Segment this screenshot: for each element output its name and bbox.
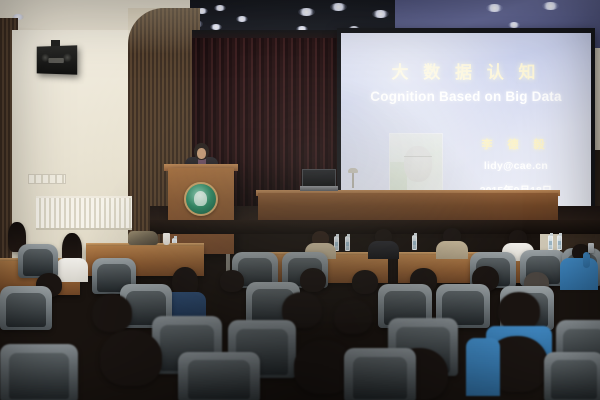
auditorium-seat[interactable]: [544, 352, 600, 400]
audience-torso: [368, 241, 399, 259]
auditorium-seat[interactable]: [344, 348, 416, 400]
slide-speaker-name: 李 德 毅: [456, 136, 576, 152]
water-bottle[interactable]: [345, 236, 350, 251]
bottle-cap: [347, 234, 350, 237]
handbag[interactable]: [128, 231, 158, 245]
wall-radiator: [36, 196, 132, 230]
audience-torso-blue: [560, 258, 598, 290]
ceiling-spotlight-icon: [486, 4, 503, 12]
laptop-keyboard[interactable]: [300, 186, 338, 191]
water-bottle[interactable]: [557, 235, 562, 250]
podium: [168, 168, 234, 254]
slide-title-chinese: 大 数 据 认 知: [341, 58, 591, 83]
bottle-cap: [550, 233, 553, 236]
ceiling-spotlight-icon: [214, 5, 226, 11]
ceiling-spotlight-icon: [330, 3, 347, 11]
speaker-grille: [48, 58, 63, 63]
portrait-face: [404, 146, 432, 182]
smartphone-icon[interactable]: [588, 243, 594, 253]
desk-lamp-icon: [352, 171, 354, 188]
presenter-face: [197, 148, 206, 159]
auditorium-seat[interactable]: [178, 352, 260, 400]
audience-head: [300, 268, 326, 292]
speaker-cone-right: [63, 53, 72, 62]
audience-head-foreground: [100, 330, 162, 386]
slide-subtitle-english: Cognition Based on Big Data: [341, 89, 591, 104]
audience-head: [220, 270, 244, 292]
ceiling-spotlight-icon: [298, 8, 315, 16]
bottle-cap: [336, 234, 339, 237]
projection-screen[interactable]: 大 数 据 认 知 Cognition Based on Big Data 李 …: [341, 33, 591, 216]
audience-torso-blue: [466, 338, 500, 396]
laptop-screen[interactable]: [302, 169, 336, 187]
audience-head: [334, 300, 372, 334]
light-switch-panel[interactable]: [28, 174, 66, 184]
wall-speaker-icon: [37, 45, 77, 74]
bottle-cap: [414, 233, 417, 236]
audience-torso: [56, 258, 88, 282]
bottle-cap: [559, 233, 562, 236]
auditorium-seat[interactable]: [0, 286, 52, 330]
ceiling-spotlight-icon: [542, 2, 559, 10]
bottle-cap: [174, 236, 177, 239]
audience-arm-raised: [583, 252, 590, 268]
water-bottle[interactable]: [548, 235, 553, 250]
audience-torso: [436, 241, 468, 259]
audience-head: [498, 292, 540, 330]
stage-table: [258, 193, 558, 221]
auditorium-seat[interactable]: [0, 344, 78, 400]
portrait-glasses-icon: [404, 156, 432, 162]
audience-head: [92, 294, 132, 332]
paper-cup[interactable]: [163, 233, 170, 245]
water-bottle[interactable]: [412, 235, 417, 250]
university-seal-emblem-icon: [184, 182, 218, 216]
lecture-hall-photo: 大 数 据 认 知 Cognition Based on Big Data 李 …: [0, 0, 600, 400]
audience-head: [352, 270, 378, 294]
ceiling-spotlight-icon: [372, 10, 389, 18]
slide-speaker-email: lidy@cae.cn: [456, 160, 576, 172]
ceiling-spotlight-icon: [236, 16, 248, 22]
